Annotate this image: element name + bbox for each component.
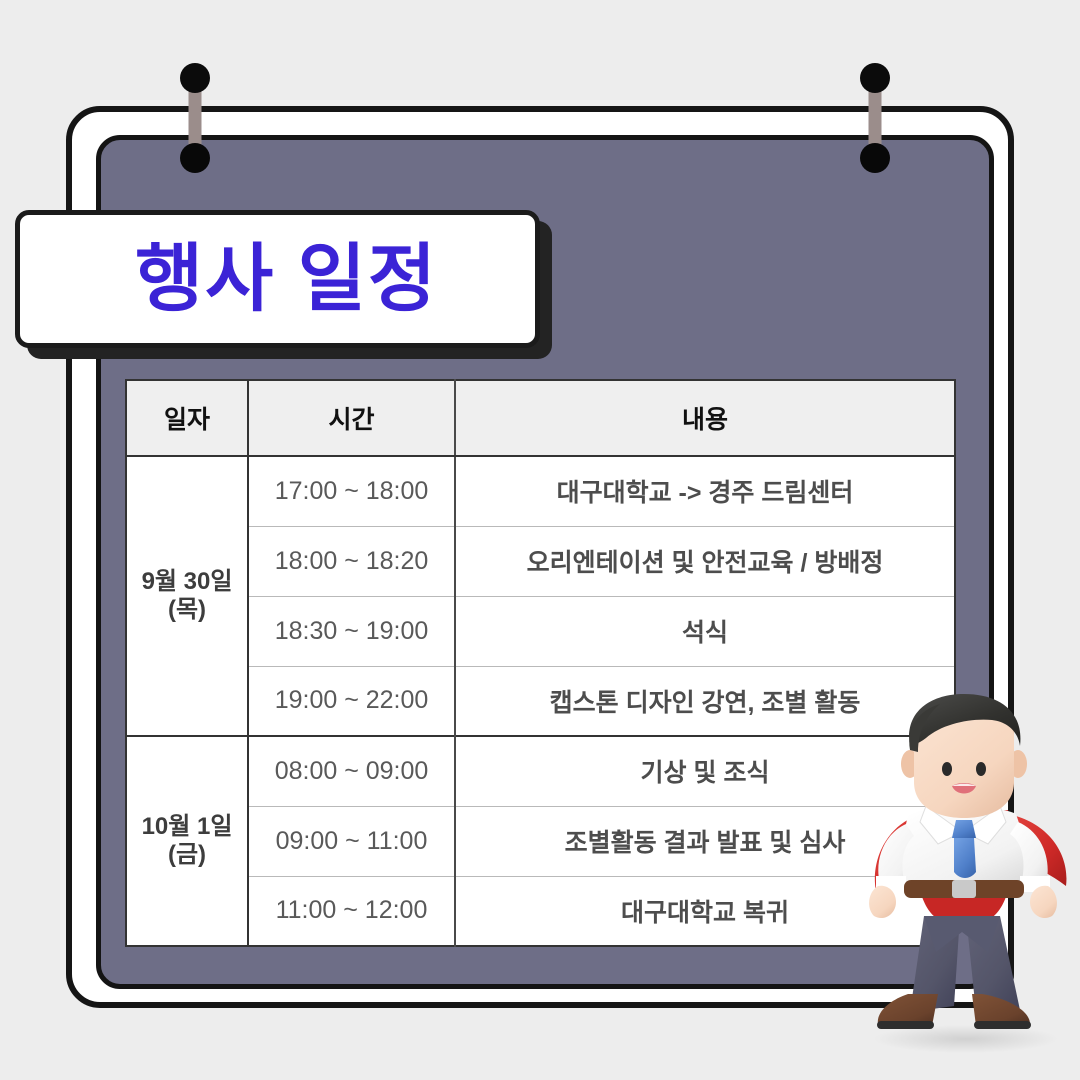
table-row: 10월 1일(금)08:00 ~ 09:00기상 및 조식 (126, 736, 955, 806)
table-head: 일자 시간 내용 (126, 380, 955, 456)
cell-time: 11:00 ~ 12:00 (248, 876, 455, 946)
shoe-right-sole (974, 1021, 1031, 1029)
cell-date-weekday: (목) (128, 596, 246, 624)
column-header-content: 내용 (455, 380, 955, 456)
pin-knob-bottom (860, 143, 890, 173)
table-header-row: 일자 시간 내용 (126, 380, 955, 456)
table-row: 09:00 ~ 11:00조별활동 결과 발표 및 심사 (126, 806, 955, 876)
character-ground-shadow (874, 1025, 1058, 1053)
necktie-blade (954, 838, 976, 878)
column-header-time: 시간 (248, 380, 455, 456)
pants-crotch (924, 916, 1000, 952)
cell-date-day: 9월 30일 (128, 568, 246, 596)
cell-time: 08:00 ~ 09:00 (248, 736, 455, 806)
cell-content: 오리엔테이션 및 안전교육 / 방배정 (455, 526, 955, 596)
belt-buckle (952, 880, 976, 898)
cell-date: 9월 30일(목) (126, 456, 248, 736)
hanging-pin-right (868, 63, 882, 173)
table-row: 18:00 ~ 18:20오리엔테이션 및 안전교육 / 방배정 (126, 526, 955, 596)
cell-content: 대구대학교 -> 경주 드림센터 (455, 456, 955, 526)
schedule-table: 일자 시간 내용 9월 30일(목)17:00 ~ 18:00대구대학교 -> … (125, 379, 956, 947)
hanging-pin-left (188, 63, 202, 173)
title-plate-box: 행사 일정 (15, 210, 540, 348)
pin-knob-top (860, 63, 890, 93)
table-row: 9월 30일(목)17:00 ~ 18:00대구대학교 -> 경주 드림센터 (126, 456, 955, 526)
page-title: 행사 일정 (117, 242, 438, 316)
cell-time: 09:00 ~ 11:00 (248, 806, 455, 876)
cell-date-weekday: (금) (128, 841, 246, 869)
eye-right (976, 762, 986, 776)
table-row: 11:00 ~ 12:00대구대학교 복귀 (126, 876, 955, 946)
table-body: 9월 30일(목)17:00 ~ 18:00대구대학교 -> 경주 드림센터18… (126, 456, 955, 946)
necktie-knot (952, 820, 976, 838)
pin-knob-top (180, 63, 210, 93)
cell-time: 17:00 ~ 18:00 (248, 456, 455, 526)
table-row: 19:00 ~ 22:00캡스톤 디자인 강연, 조별 활동 (126, 666, 955, 736)
cell-date-day: 10월 1일 (128, 813, 246, 841)
businessman-hero-character-icon (848, 694, 1078, 1064)
title-plate: 행사 일정 (15, 210, 540, 348)
cell-time: 18:30 ~ 19:00 (248, 596, 455, 666)
pin-knob-bottom (180, 143, 210, 173)
eye-left (942, 762, 952, 776)
cell-content: 석식 (455, 596, 955, 666)
cell-time: 18:00 ~ 18:20 (248, 526, 455, 596)
column-header-date: 일자 (126, 380, 248, 456)
table-row: 18:30 ~ 19:00석식 (126, 596, 955, 666)
cell-date: 10월 1일(금) (126, 736, 248, 946)
cell-time: 19:00 ~ 22:00 (248, 666, 455, 736)
shoe-left-sole (877, 1021, 934, 1029)
